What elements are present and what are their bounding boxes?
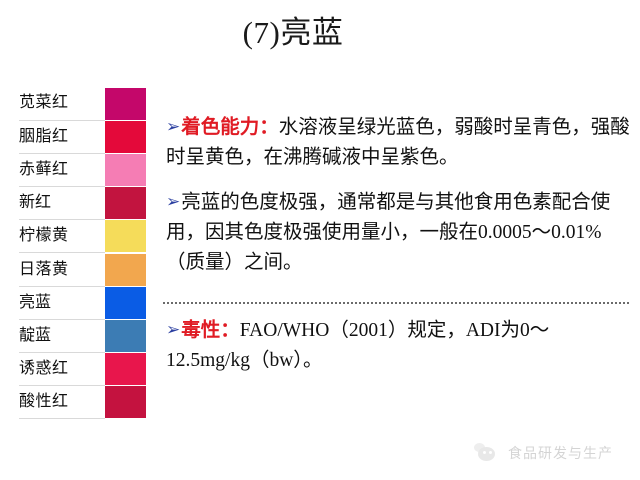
wechat-logo-icon [474, 440, 500, 466]
color-chip [105, 287, 146, 319]
color-chip [105, 220, 146, 252]
table-row: 日落黄 [19, 253, 147, 286]
bullet-paragraph-toxicity: ➢毒性：FAO/WHO（2001）规定，ADI为0～12.5mg/kg（bw）。 [166, 316, 632, 376]
swatch-chip-cell [105, 353, 147, 386]
swatch-label-text: 诱惑红 [19, 353, 105, 385]
color-chip [105, 320, 146, 352]
swatch-label-cell: 新红 [19, 187, 105, 220]
swatch-label-text: 柠檬黄 [19, 220, 105, 252]
swatch-chip-cell [105, 386, 147, 419]
footer-watermark: 食品研发与生产 [474, 440, 613, 466]
table-row: 亮蓝 [19, 286, 147, 319]
swatch-chip-cell [105, 120, 147, 153]
swatch-label-cell: 胭脂红 [19, 120, 105, 153]
section-divider [163, 302, 629, 304]
swatch-label-cell: 日落黄 [19, 253, 105, 286]
arrow-bullet-icon: ➢ [166, 112, 180, 142]
swatch-label-cell: 诱惑红 [19, 353, 105, 386]
swatch-chip-cell [105, 220, 147, 253]
swatch-chip-cell [105, 319, 147, 352]
table-row: 柠檬黄 [19, 220, 147, 253]
watermark-text: 食品研发与生产 [508, 443, 613, 463]
color-chip [105, 386, 146, 418]
swatch-chip-cell [105, 153, 147, 186]
color-chip [105, 187, 146, 219]
paragraph-heading: 着色能力： [181, 117, 279, 138]
swatch-label-text: 新红 [19, 187, 105, 219]
table-row: 诱惑红 [19, 353, 147, 386]
swatch-label-text: 胭脂红 [19, 121, 105, 153]
bullet-paragraph-coloring-ability: ➢着色能力：水溶液呈绿光蓝色，弱酸时呈青色，强酸时呈黄色，在沸腾碱液中呈紫色。 [166, 113, 632, 173]
swatch-chip-cell [105, 253, 147, 286]
swatch-label-text: 酸性红 [19, 386, 105, 418]
swatch-chip-cell [105, 87, 147, 120]
swatch-chip-cell [105, 187, 147, 220]
swatch-label-text: 日落黄 [19, 254, 105, 286]
swatch-label-cell: 赤藓红 [19, 153, 105, 186]
table-row: 苋菜红 [19, 87, 147, 120]
table-row: 靛蓝 [19, 319, 147, 352]
color-chip [105, 154, 146, 186]
swatch-label-text: 亮蓝 [19, 287, 105, 319]
content-column-toxicity: ➢毒性：FAO/WHO（2001）规定，ADI为0～12.5mg/kg（bw）。 [166, 316, 632, 391]
swatch-label-cell: 苋菜红 [19, 87, 105, 120]
color-chip [105, 121, 146, 153]
color-swatch-table-body: 苋菜红 胭脂红 赤藓红 新红 [19, 87, 147, 419]
swatch-label-text: 靛蓝 [19, 320, 105, 352]
swatch-label-cell: 柠檬黄 [19, 220, 105, 253]
swatch-label-text: 赤藓红 [19, 154, 105, 186]
paragraph-body: 亮蓝的色度极强，通常都是与其他食用色素配合使用，因其色度极强使用量小，一般在0.… [166, 192, 610, 273]
table-row: 酸性红 [19, 386, 147, 419]
color-chip [105, 88, 146, 120]
swatch-label-cell: 亮蓝 [19, 286, 105, 319]
color-swatch-table: 苋菜红 胭脂红 赤藓红 新红 [19, 87, 147, 419]
table-row: 胭脂红 [19, 120, 147, 153]
table-row: 新红 [19, 187, 147, 220]
table-row: 赤藓红 [19, 153, 147, 186]
swatch-label-text: 苋菜红 [19, 87, 105, 119]
bullet-paragraph-color-strength: ➢亮蓝的色度极强，通常都是与其他食用色素配合使用，因其色度极强使用量小，一般在0… [166, 188, 632, 278]
swatch-chip-cell [105, 286, 147, 319]
swatch-label-cell: 酸性红 [19, 386, 105, 419]
arrow-bullet-icon: ➢ [166, 315, 180, 345]
content-column: ➢着色能力：水溶液呈绿光蓝色，弱酸时呈青色，强酸时呈黄色，在沸腾碱液中呈紫色。 … [166, 113, 632, 289]
page-title: (7)亮蓝 [0, 14, 586, 53]
swatch-label-cell: 靛蓝 [19, 319, 105, 352]
color-chip [105, 353, 146, 385]
color-chip [105, 254, 146, 286]
arrow-bullet-icon: ➢ [166, 187, 180, 217]
paragraph-heading: 毒性： [181, 320, 240, 341]
